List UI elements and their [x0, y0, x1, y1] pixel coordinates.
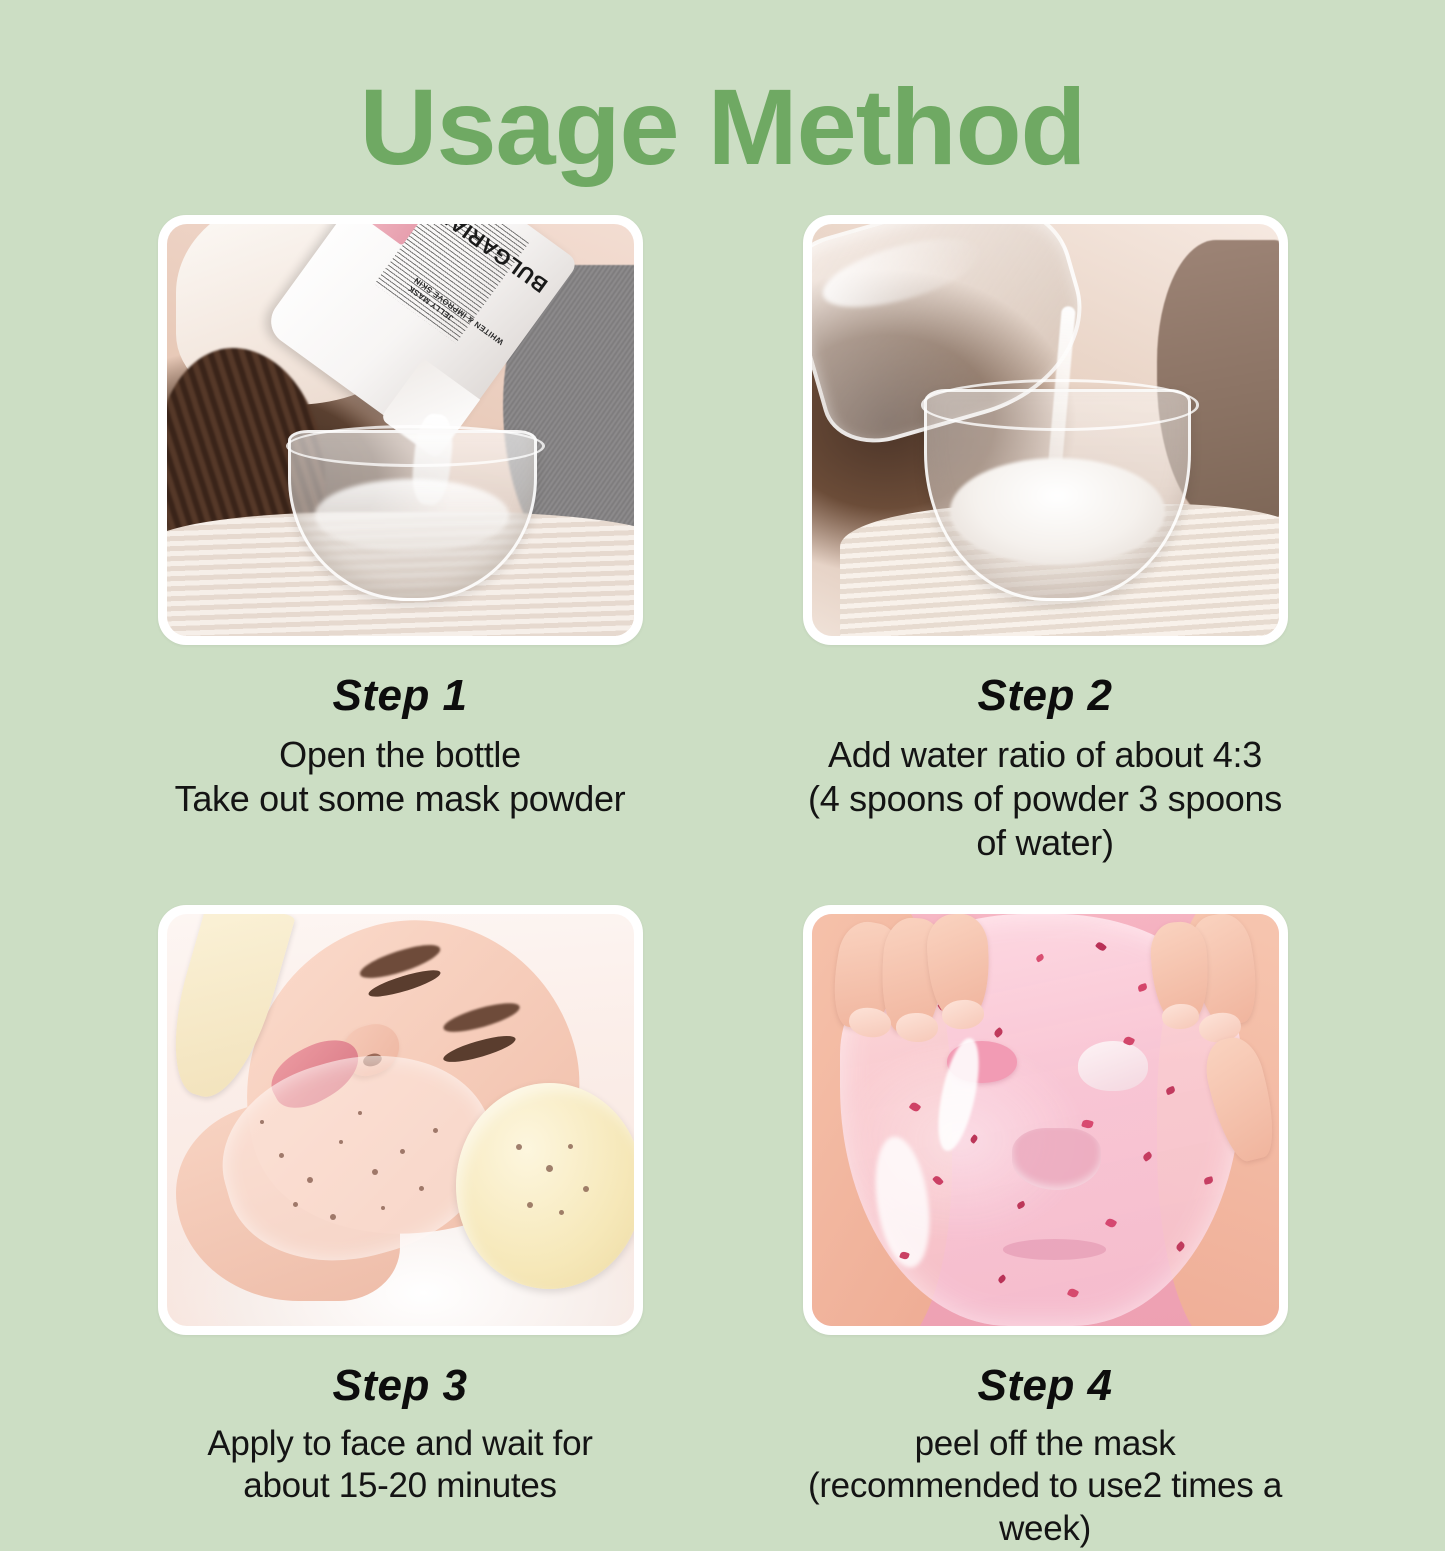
step-4-title: Step 4	[977, 1361, 1112, 1411]
step-1-photo-card: BULGARIAN ROSE JELLY MASK WHITEN & IMPRO…	[158, 215, 643, 645]
step-1-title: Step 1	[332, 671, 467, 721]
bottle-pouring-powder-photo: BULGARIAN ROSE JELLY MASK WHITEN & IMPRO…	[167, 224, 634, 636]
mask-speck	[433, 1128, 438, 1133]
mask-mixing-bowl	[456, 1083, 633, 1289]
mask-speck	[279, 1153, 284, 1158]
mask-eye-opening-right	[1078, 1041, 1148, 1090]
cup-glare	[816, 224, 987, 320]
bowl-rim	[286, 425, 545, 467]
mask-mouth-opening	[1003, 1239, 1106, 1260]
pouring-water-photo	[812, 224, 1279, 636]
step-1-description: Open the bottle Take out some mask powde…	[175, 733, 626, 821]
page-title: Usage Method	[0, 70, 1445, 183]
step-4-photo-card	[803, 905, 1288, 1335]
step-3-photo-card	[158, 905, 643, 1335]
bowl-speck	[516, 1144, 522, 1150]
applying-mask-photo	[167, 914, 634, 1326]
step-cell-3: Step 3 Apply to face and wait for about …	[158, 905, 643, 1551]
step-2-title: Step 2	[977, 671, 1112, 721]
mask-speck	[400, 1149, 405, 1154]
step-cell-2: Step 2 Add water ratio of about 4:3 (4 s…	[803, 215, 1288, 865]
mask-speck	[260, 1120, 264, 1124]
step-3-title: Step 3	[332, 1361, 467, 1411]
step-4-description: peel off the mask (recommended to use2 t…	[803, 1423, 1288, 1551]
mask-speck	[419, 1186, 424, 1191]
step-3-description: Apply to face and wait for about 15-20 m…	[207, 1423, 592, 1508]
bowl-speck	[568, 1144, 573, 1149]
steps-row-2: Step 3 Apply to face and wait for about …	[0, 905, 1445, 1551]
mask-nose-opening	[1012, 1128, 1101, 1190]
mask-speck	[293, 1202, 298, 1207]
fingernail	[895, 1012, 938, 1042]
bowl-rim	[921, 379, 1199, 430]
peeling-mask-photo	[812, 914, 1279, 1326]
bowl-speck	[559, 1210, 564, 1215]
steps-grid: BULGARIAN ROSE JELLY MASK WHITEN & IMPRO…	[0, 215, 1445, 1551]
step-cell-4: Step 4 peel off the mask (recommended to…	[803, 905, 1288, 1551]
step-2-photo-card	[803, 215, 1288, 645]
steps-row-1: BULGARIAN ROSE JELLY MASK WHITEN & IMPRO…	[0, 215, 1445, 865]
bowl-speck	[546, 1165, 553, 1172]
step-cell-1: BULGARIAN ROSE JELLY MASK WHITEN & IMPRO…	[158, 215, 643, 865]
bowl-powder-content	[315, 479, 509, 552]
step-2-description: Add water ratio of about 4:3 (4 spoons o…	[803, 733, 1288, 865]
bowl-speck	[527, 1202, 533, 1208]
bowl-speck	[583, 1186, 589, 1192]
bowl-powder-content	[950, 458, 1164, 565]
usage-method-infographic: Usage Method BULGARIAN ROSE	[0, 0, 1445, 1445]
